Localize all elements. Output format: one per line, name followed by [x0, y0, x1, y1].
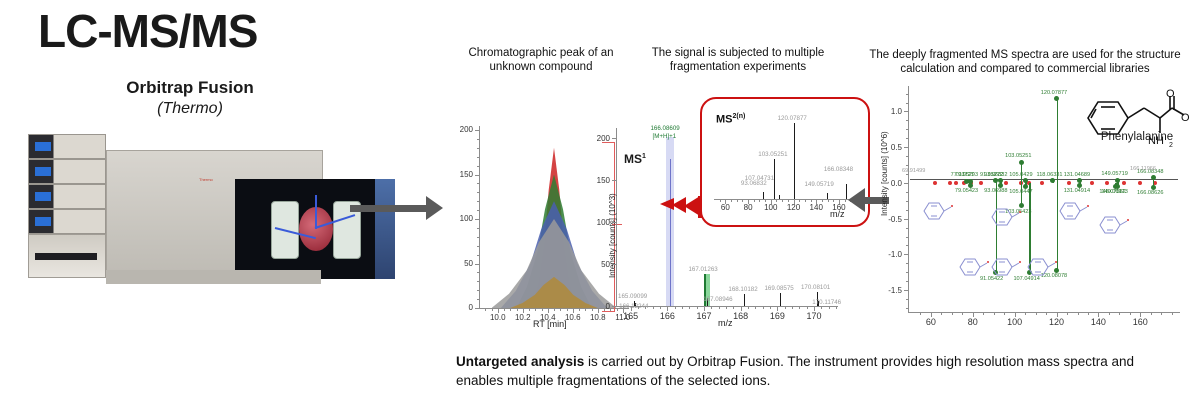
x-minor-tick [829, 307, 830, 309]
ms2n-peak-label: 149.05719 [805, 181, 834, 188]
y-minor-tick [477, 183, 479, 184]
ms1-peak [744, 294, 745, 306]
y-minor-tick [477, 228, 479, 229]
mirror-gray-label: 69.91499 [902, 168, 925, 174]
y-minor-tick [906, 103, 908, 104]
x-minor-tick [941, 313, 942, 315]
fragment-structure-benzene-cation [920, 198, 954, 224]
mirror-peak-dot [1019, 160, 1024, 165]
mirror-peak-dot [998, 183, 1003, 188]
x-minor-tick [776, 200, 777, 202]
mirror-peak-dot [1054, 96, 1059, 101]
y-minor-tick [906, 210, 908, 211]
caption-step-2: The signal is subjected to multiple frag… [638, 46, 838, 74]
ms2n-peak-label: 107.04731 [745, 175, 774, 182]
x-minor-tick [1067, 313, 1068, 315]
x-minor-tick [821, 307, 822, 309]
mirror-reference-dot [1138, 181, 1142, 185]
fragment-structure-tropylium [956, 254, 990, 280]
y-minor-tick [477, 219, 479, 220]
x-minor-tick [697, 307, 698, 309]
page-title: LC-MS/MS [38, 4, 257, 58]
x-tick-label: 80 [963, 317, 983, 327]
x-tick-label: 120 [1047, 317, 1067, 327]
ms1-peak [670, 159, 671, 306]
y-tick-label: 100 [592, 218, 610, 227]
x-tick-label: 160 [1130, 317, 1150, 327]
x-minor-tick [1119, 313, 1120, 315]
y-minor-tick [477, 246, 479, 247]
x-minor-tick [726, 307, 727, 309]
mirror-reference-dot [1122, 181, 1126, 185]
ms2n-peak-label: 166.08348 [824, 166, 853, 173]
y-minor-tick [477, 308, 479, 309]
x-minor-tick [689, 307, 690, 309]
x-minor-tick [567, 309, 568, 311]
x-minor-tick [771, 200, 772, 202]
y-tick-label: 50 [455, 259, 473, 268]
x-minor-tick [794, 200, 795, 202]
x-minor-tick [1046, 313, 1047, 315]
y-minor-tick [906, 192, 908, 193]
x-minor-tick [811, 200, 812, 202]
mirror-peak-label: 166.08626 [1137, 190, 1163, 196]
x-minor-tick [492, 309, 493, 311]
x-tick-label: 168 [731, 311, 751, 321]
x-minor-tick [748, 307, 749, 309]
x-minor-tick [704, 307, 705, 309]
y-minor-tick [477, 130, 479, 131]
ms1-peak-label: 167.01263 [688, 266, 717, 273]
y-minor-tick [906, 245, 908, 246]
x-minor-tick [737, 200, 738, 202]
mirror-peak-label: 120.07877 [1041, 90, 1067, 96]
y-tick-label: -0.5 [876, 215, 902, 224]
y-minor-tick [906, 281, 908, 282]
mirror-peak-label: 93.06832 [984, 172, 1007, 178]
ms2n-peak [774, 159, 775, 199]
mass-spectrometer-body: Thermo [106, 150, 323, 272]
x-minor-tick [1036, 313, 1037, 315]
x-minor-tick [535, 309, 536, 311]
ms2n-peak-label: 103.05251 [758, 151, 787, 158]
x-minor-tick [1161, 313, 1162, 315]
x-minor-tick [770, 307, 771, 309]
x-minor-tick [836, 307, 837, 309]
y-minor-tick [906, 147, 908, 148]
y-minor-tick [906, 174, 908, 175]
x-minor-tick [754, 200, 755, 202]
arrow-right-icon [350, 196, 450, 220]
x-minor-tick [1004, 313, 1005, 315]
x-minor-tick [675, 307, 676, 309]
x-minor-tick [962, 313, 963, 315]
x-minor-tick [805, 200, 806, 202]
ms2n-inset-panel: MS2(n) 6080100120140160 93.06832103.0525… [700, 97, 870, 227]
x-minor-tick [1015, 313, 1016, 315]
mirror-reference-dot [1067, 181, 1071, 185]
x-minor-tick [719, 307, 720, 309]
x-minor-tick [573, 309, 574, 311]
x-tick-label: 60 [921, 317, 941, 327]
x-tick-label: 165 [621, 311, 641, 321]
phenylalanine-structure-icon: OH NH 2 O [1080, 88, 1190, 158]
x-minor-tick [816, 200, 817, 202]
y-minor-tick [906, 290, 908, 291]
x-minor-tick [585, 309, 586, 311]
x-minor-tick [711, 307, 712, 309]
x-tick-label: 80 [739, 203, 757, 212]
x-minor-tick [733, 307, 734, 309]
y-minor-tick [906, 299, 908, 300]
x-minor-tick [799, 200, 800, 202]
y-minor-tick [477, 157, 479, 158]
caption-step-1: Chromatographic peak of an unknown compo… [452, 46, 630, 74]
y-tick-label: 0.5 [876, 143, 902, 152]
bottom-caption: Untargeted analysis is carried out by Or… [456, 352, 1156, 390]
x-minor-tick [994, 313, 995, 315]
y-minor-tick [477, 264, 479, 265]
mirror-peak-label: 131.04914 [1064, 188, 1090, 194]
y-minor-tick [906, 165, 908, 166]
y-minor-tick [906, 156, 908, 157]
x-minor-tick [523, 309, 524, 311]
x-minor-tick [1140, 313, 1141, 315]
fragment-structure-styrene-cation [988, 204, 1022, 230]
ms1-peak-label: 166.12244 [619, 303, 648, 310]
orbitrap-icon [271, 201, 361, 257]
y-minor-tick [477, 139, 479, 140]
x-minor-tick [748, 200, 749, 202]
x-tick-label: 140 [807, 203, 825, 212]
x-minor-tick [725, 200, 726, 202]
x-minor-tick [1025, 313, 1026, 315]
y-minor-tick [906, 263, 908, 264]
x-minor-tick [759, 200, 760, 202]
y-minor-tick [477, 290, 479, 291]
y-tick-label: 100 [455, 214, 473, 223]
x-minor-tick [560, 309, 561, 311]
x-minor-tick [788, 200, 789, 202]
x-minor-tick [799, 307, 800, 309]
lc-stack [28, 134, 106, 278]
ms1-peak-label: 168.10182 [728, 286, 757, 293]
x-minor-tick [579, 309, 580, 311]
x-minor-tick [1109, 313, 1110, 315]
mirror-peak-dot [1115, 178, 1120, 183]
x-minor-tick [755, 307, 756, 309]
lc-ms-instrument-photo: Thermo [18, 128, 348, 318]
x-minor-tick [782, 200, 783, 202]
y-minor-tick [477, 255, 479, 256]
mirror-peak-label: 131.04689 [1064, 172, 1090, 178]
y-minor-tick [906, 272, 908, 273]
x-minor-tick [660, 307, 661, 309]
mirror-peak-label: 93.06988 [984, 188, 1007, 194]
y-tick [612, 180, 616, 181]
x-minor-tick [1088, 313, 1089, 315]
x-minor-tick [517, 309, 518, 311]
x-minor-tick [731, 200, 732, 202]
x-minor-tick [1151, 313, 1152, 315]
x-tick-label: 100 [1005, 317, 1025, 327]
x-minor-tick [785, 307, 786, 309]
y-tick-label: 1.0 [876, 107, 902, 116]
ms1-peak-label: 170.11746 [812, 299, 841, 306]
x-tick-label: 60 [716, 203, 734, 212]
mirror-reference-dot [1004, 181, 1008, 185]
x-minor-tick [1172, 313, 1173, 315]
x-minor-tick [1098, 313, 1099, 315]
x-minor-tick [741, 307, 742, 309]
mirror-reference-dot [954, 181, 958, 185]
instrument-name: Orbitrap Fusion [40, 78, 340, 98]
y-tick-label: 150 [592, 176, 610, 185]
mirror-peak-dot [1077, 183, 1082, 188]
ms2n-label: MS2(n) [716, 113, 745, 126]
mirror-peak-dot [1050, 178, 1055, 183]
y-tick-label: 0.0 [876, 179, 902, 188]
y-minor-tick [477, 272, 479, 273]
y-tick-label: 200 [455, 125, 473, 134]
x-minor-tick [1078, 313, 1079, 315]
mirror-reference-dot [948, 181, 952, 185]
fragment-structure-phenylalanine-H [1096, 212, 1130, 238]
x-minor-tick [653, 307, 654, 309]
x-minor-tick [742, 200, 743, 202]
x-minor-tick [828, 200, 829, 202]
ms1-peak-label: 170.08101 [801, 284, 830, 291]
y-minor-tick [906, 308, 908, 309]
x-minor-tick [682, 307, 683, 309]
y-tick-label: -1.5 [876, 286, 902, 295]
ms2n-peak [763, 192, 764, 199]
x-minor-tick [777, 307, 778, 309]
y-tick-label: 50 [592, 260, 610, 269]
y-minor-tick [477, 299, 479, 300]
y-minor-tick [906, 228, 908, 229]
mirror-peak-dot [1023, 184, 1028, 189]
x-minor-tick [807, 307, 808, 309]
x-tick-label: 10.8 [588, 313, 608, 322]
ms2n-peak [779, 195, 780, 199]
mirror-peak-dot [968, 183, 973, 188]
y-tick [612, 264, 616, 265]
mirror-reference-dot [1090, 181, 1094, 185]
x-minor-tick [529, 309, 530, 311]
y-minor-tick [477, 237, 479, 238]
y-minor-tick [906, 129, 908, 130]
ms2n-peak [846, 184, 847, 199]
x-minor-tick [920, 313, 921, 315]
ms1-label: MS1 [624, 152, 646, 166]
y-minor-tick [906, 254, 908, 255]
mirror-peak-dot [1115, 184, 1120, 189]
chromatogram-x-label: RT [min] [533, 319, 567, 329]
y-tick-label: 150 [455, 170, 473, 179]
x-tick-label: 170 [804, 311, 824, 321]
ms1-x-label: m/z [718, 318, 733, 328]
x-minor-tick [763, 307, 764, 309]
ms1-peak-label: 167.08946 [703, 296, 732, 303]
y-tick-label: 0 [592, 302, 610, 311]
y-minor-tick [906, 111, 908, 112]
x-minor-tick [845, 200, 846, 202]
x-minor-tick [765, 200, 766, 202]
y-minor-tick [906, 237, 908, 238]
y-tick [612, 306, 616, 307]
x-tick-label: 169 [767, 311, 787, 321]
fragment-structure-phenethylamine [1024, 254, 1058, 280]
y-minor-tick [906, 201, 908, 202]
y-minor-tick [477, 281, 479, 282]
svg-text:O: O [1166, 88, 1175, 100]
mirror-peak-label: 103.05251 [1005, 153, 1031, 159]
mirror-reference-dot [933, 181, 937, 185]
ms1-peak [780, 293, 781, 306]
fragment-structure-cinnamaldehyde [1056, 198, 1090, 224]
mirror-gray-label: 166.11966 [1130, 166, 1156, 172]
caption-step-3: The deeply fragmented MS spectra are use… [860, 48, 1190, 76]
x-minor-tick [498, 309, 499, 311]
x-minor-tick [1057, 313, 1058, 315]
x-minor-tick [720, 200, 721, 202]
x-tick-label: 120 [785, 203, 803, 212]
mirror-reference-dot [1040, 181, 1044, 185]
y-minor-tick [477, 175, 479, 176]
ms2n-peak-label: 120.07877 [778, 115, 807, 122]
ms1-precursor-annotation: [M+H]+1 [652, 133, 676, 140]
x-minor-tick [973, 313, 974, 315]
y-minor-tick [477, 166, 479, 167]
x-minor-tick [510, 309, 511, 311]
x-minor-tick [542, 309, 543, 311]
ms1-peak-label: 169.08575 [764, 285, 793, 292]
instrument-vendor: (Thermo) [40, 100, 340, 118]
y-minor-tick [906, 219, 908, 220]
y-minor-tick [477, 148, 479, 149]
x-tick-label: 140 [1088, 317, 1108, 327]
ms2n-peak [794, 123, 795, 199]
x-minor-tick [504, 309, 505, 311]
x-tick-label: 100 [762, 203, 780, 212]
y-minor-tick [906, 183, 908, 184]
y-minor-tick [906, 138, 908, 139]
orbitrap-cutaway-graphic [235, 179, 395, 279]
y-minor-tick [477, 201, 479, 202]
x-minor-tick [839, 200, 840, 202]
x-minor-tick [485, 309, 486, 311]
ms2n-x-label: m/z [830, 209, 845, 219]
y-tick-label: -1.0 [876, 250, 902, 259]
x-tick-label: 166 [657, 311, 677, 321]
y-minor-tick [477, 192, 479, 193]
x-minor-tick [983, 313, 984, 315]
x-minor-tick [931, 313, 932, 315]
x-minor-tick [1130, 313, 1131, 315]
x-minor-tick [822, 200, 823, 202]
mirror-peak-label: 79.05423 [955, 188, 978, 194]
mirror-peak-label: 149.05719 [1101, 171, 1127, 177]
x-minor-tick [554, 309, 555, 311]
mirror-reference-dot [979, 181, 983, 185]
mirror-peak-label: 105.0429 [1009, 172, 1032, 178]
y-minor-tick [477, 210, 479, 211]
x-minor-tick [548, 309, 549, 311]
x-minor-tick [667, 307, 668, 309]
y-tick-label: 200 [592, 134, 610, 143]
x-minor-tick [952, 313, 953, 315]
mirror-peak-dot [1151, 185, 1156, 190]
ms1-peak-label: 166.08609 [650, 125, 679, 132]
mirror-peak-up [1057, 99, 1058, 183]
structure-name: Phenylalanine [1082, 131, 1192, 143]
svg-text:OH: OH [1181, 112, 1190, 124]
bottom-caption-bold: Untargeted analysis [456, 354, 584, 369]
x-minor-tick [833, 200, 834, 202]
y-tick [612, 222, 616, 223]
y-minor-tick [906, 94, 908, 95]
y-minor-tick [906, 120, 908, 121]
x-tick-label: 10.0 [488, 313, 508, 322]
ms2n-peak [827, 193, 828, 199]
ms1-peak-label: 165.09099 [618, 293, 647, 300]
x-minor-tick [814, 307, 815, 309]
mirror-peak-label: 149.06973 [1101, 189, 1127, 195]
fragment-structure-methylphenol [988, 254, 1022, 280]
y-tick [612, 138, 616, 139]
y-tick-label: 0 [455, 303, 473, 312]
x-tick-label: 167 [694, 311, 714, 321]
mirror-peak-label: 118.06331 [1037, 172, 1063, 178]
x-tick-label: 10.2 [513, 313, 533, 322]
mirror-reference-dot [1105, 181, 1109, 185]
mirror-peak-label: 79.05293 [955, 172, 978, 178]
x-minor-tick [792, 307, 793, 309]
